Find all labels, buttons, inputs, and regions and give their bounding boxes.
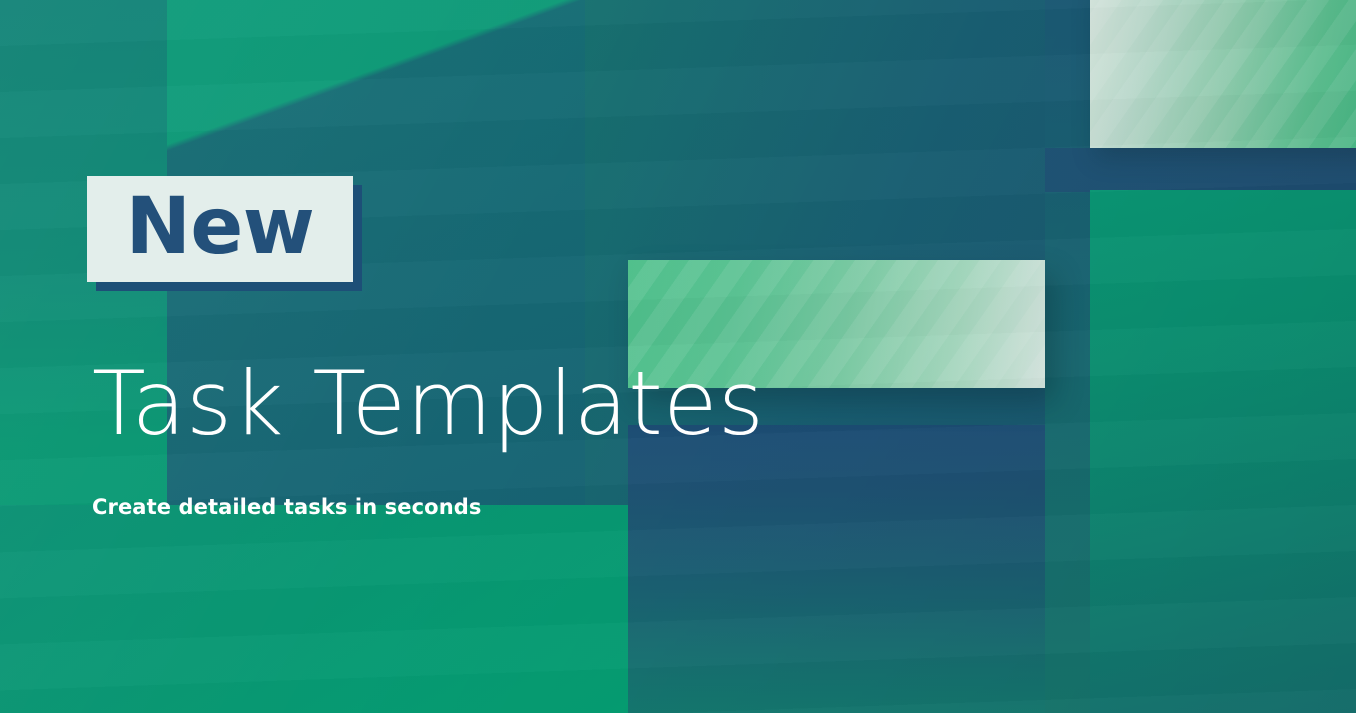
new-badge: New [87, 176, 353, 282]
background-bottom-green-field [0, 505, 628, 713]
new-badge-label: New [126, 188, 315, 266]
background-right-teal-strip [1045, 0, 1090, 713]
page-subtitle: Create detailed tasks in seconds [92, 495, 482, 519]
background-center-navy-column [628, 425, 1045, 713]
promo-banner: New Task Templates Create detailed tasks… [0, 0, 1356, 713]
card-stripe-overlay [1090, 0, 1356, 148]
background-upper-right-navy [1045, 148, 1356, 192]
page-title: Task Templates [92, 358, 764, 450]
background-right-green-column [1090, 190, 1356, 713]
decorative-card-top-right [1090, 0, 1356, 148]
new-badge-box: New [87, 176, 353, 282]
